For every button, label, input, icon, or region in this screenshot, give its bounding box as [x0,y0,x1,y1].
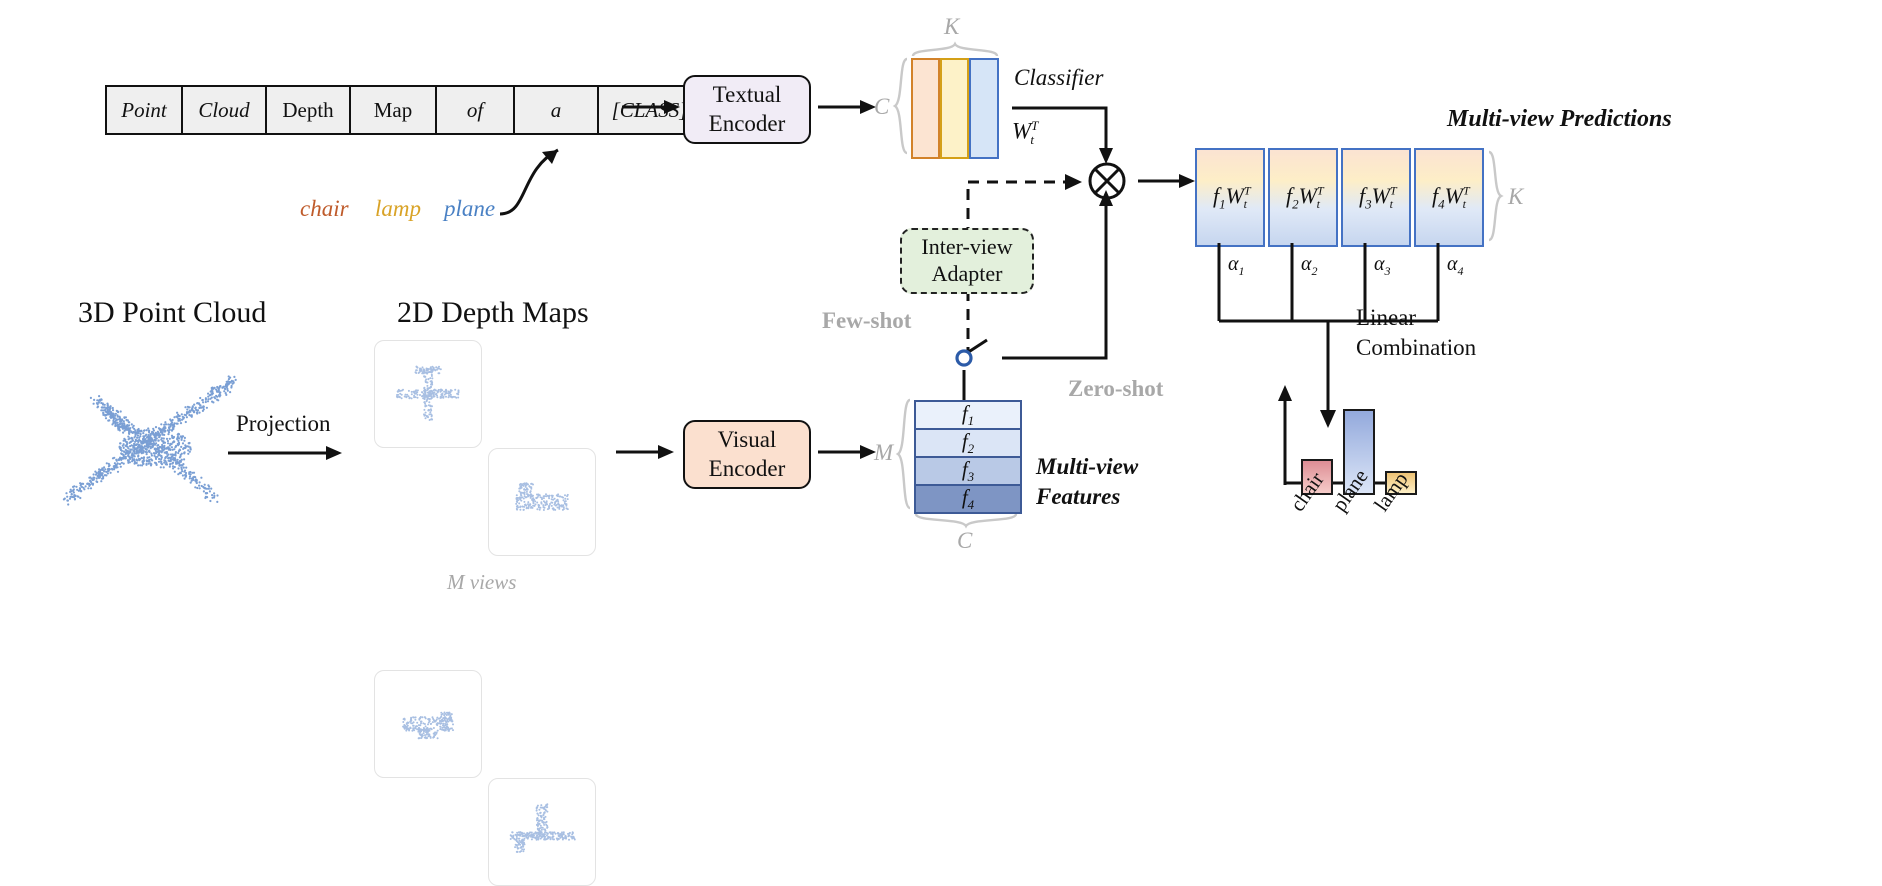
prompt-cell-1[interactable]: Cloud [183,87,267,133]
visual-encoder-line1: Visual [718,426,777,454]
feature-row-4-label: f4 [962,485,974,513]
prediction-box-2-label: f2WTt [1286,183,1320,212]
matrix-cols-label: K [944,14,959,40]
features-rows-label: M [874,440,893,466]
matrix-column-0 [911,58,940,159]
features-caption-line2: Features [1036,482,1138,512]
prediction-box-3: f3WTt [1341,148,1411,247]
textual-encoder-line2: Encoder [709,110,786,138]
depth-map-tile-3 [374,670,482,778]
predictions-title: Multi-view Predictions [1447,106,1672,133]
alpha-label-4: α4 [1447,253,1464,279]
visual-encoder[interactable]: Visual Encoder [683,420,811,489]
linear-combination-label: Linear Combination [1356,303,1476,363]
features-rows-brace [896,398,912,510]
prompt-cell-2[interactable]: Depth [267,87,351,133]
prompt-cell-5[interactable]: a [515,87,599,133]
prediction-box-1-label: f1WTt [1213,183,1247,212]
textual-encoder-line1: Textual [713,81,782,109]
prompt-cell-4[interactable]: of [437,87,515,133]
matrix-rows-brace [893,57,909,155]
arrow-tiles-to-visual-encoder [616,440,678,464]
arrow-text-encoder-to-matrix [818,95,880,119]
matrix-rows-label: C [874,94,889,120]
features-caption: Multi-view Features [1036,452,1138,512]
adapter-line1: Inter-view [921,234,1012,261]
matrix-column-1 [940,58,969,159]
feature-row-2: f2 [914,428,1022,458]
predictions-k-label: K [1508,184,1523,210]
prediction-box-4-label: f4WTt [1432,183,1466,212]
feature-row-3: f3 [914,456,1022,486]
arrow-visual-encoder-to-features [818,440,880,464]
visual-encoder-line2: Encoder [709,455,786,483]
few-shot-label: Few-shot [822,308,911,334]
features-cols-label: C [957,528,972,554]
arrow-projection [228,443,348,467]
prompt-cell-0[interactable]: Point [107,87,183,133]
arrow-prompt-to-text-encoder [622,95,684,119]
depth-map-points-3 [375,671,481,777]
features-cols-brace [914,512,1018,528]
predictions-k-brace [1487,150,1505,242]
depth-map-points-1 [375,341,481,447]
depth-maps-title: 2D Depth Maps [397,296,589,330]
feature-row-1-label: f1 [962,401,974,429]
linear-combination-line2: Combination [1356,333,1476,363]
class-curve-arrow [480,130,590,220]
prediction-box-4: f4WTt [1414,148,1484,247]
views-caption: M views [447,570,516,595]
textual-encoder[interactable]: Textual Encoder [683,75,811,144]
depth-map-tile-4 [488,778,596,886]
class-option-chair[interactable]: chair [300,196,349,222]
features-caption-line1: Multi-view [1036,452,1138,482]
prompt-template-row: Point Cloud Depth Map of a [CLASS] [105,85,702,135]
prediction-box-2: f2WTt [1268,148,1338,247]
matrix-column-2 [969,58,999,159]
depth-map-points-4 [489,779,595,885]
feature-row-4: f4 [914,484,1022,514]
feature-row-1: f1 [914,400,1022,430]
class-option-lamp[interactable]: lamp [375,196,421,222]
adapter-line2: Adapter [932,261,1003,288]
alpha-label-1: α1 [1228,253,1245,279]
classifier-matrix [911,58,999,155]
depth-map-tile-2 [488,448,596,556]
depth-map-points-2 [489,449,595,555]
point-cloud-visual [55,360,255,520]
zero-shot-path [1000,190,1120,370]
prediction-box-3-label: f3WTt [1359,183,1393,212]
projection-label: Projection [236,411,331,437]
alpha-label-3: α3 [1374,253,1391,279]
feature-row-3-label: f3 [962,457,974,485]
alpha-label-2: α2 [1301,253,1318,279]
prompt-cell-3[interactable]: Map [351,87,437,133]
prediction-box-1: f1WTt [1195,148,1265,247]
arrow-multiply-to-predictions [1138,170,1200,194]
linear-combination-line1: Linear [1356,303,1476,333]
depth-map-tile-1 [374,340,482,448]
matrix-cols-brace [911,42,999,58]
classifier-label: Classifier [1014,65,1103,91]
feature-row-2-label: f2 [962,429,974,457]
point-cloud-title: 3D Point Cloud [78,296,266,330]
